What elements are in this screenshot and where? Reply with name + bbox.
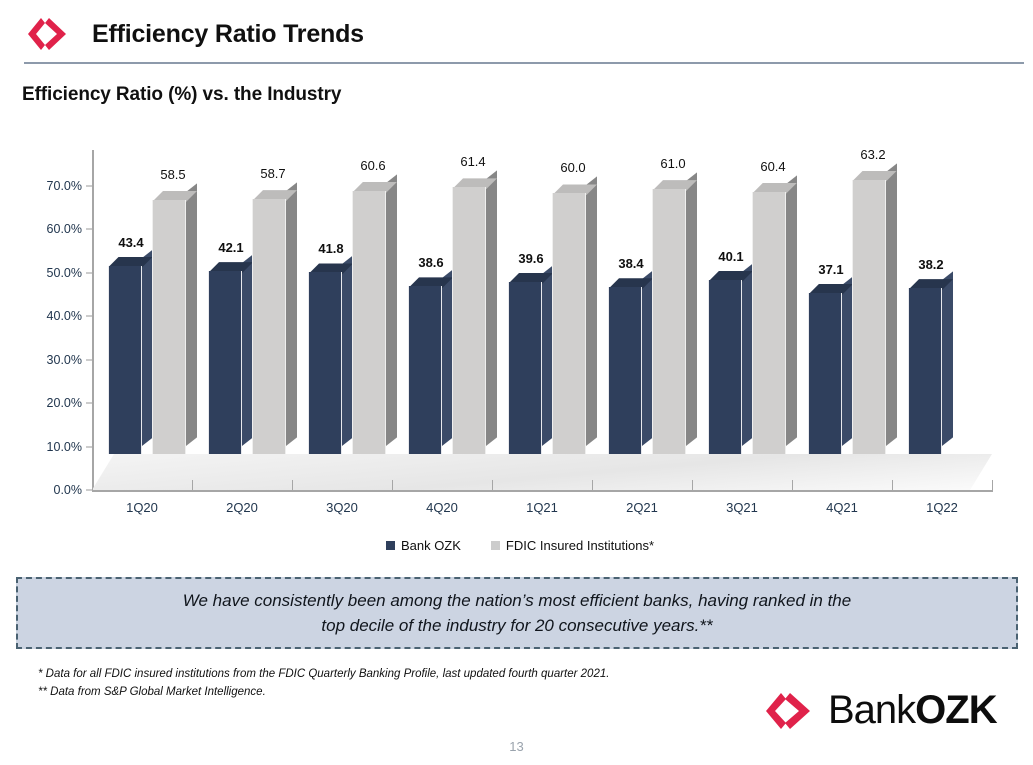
brand-word-bank: Bank: [828, 688, 915, 732]
legend-swatch-icon: [491, 541, 500, 550]
bar-value-label-bank-ozk: 38.2: [896, 257, 966, 272]
legend-item-ozk[interactable]: Bank OZK: [386, 538, 461, 553]
legend-label: FDIC Insured Institutions*: [506, 538, 654, 553]
bar-front-face: [652, 189, 686, 454]
y-axis-tick: [86, 446, 92, 447]
callout-line-1: We have consistently been among the nati…: [183, 591, 851, 611]
x-axis-label-1Q21: 1Q21: [497, 500, 587, 515]
x-axis-tick: [892, 480, 893, 492]
efficiency-ratio-chart: 0.0%10.0%20.0%30.0%40.0%50.0%60.0%70.0% …: [20, 150, 1020, 560]
callout-box: We have consistently been among the nati…: [16, 577, 1018, 649]
x-axis-label-3Q21: 3Q21: [697, 500, 787, 515]
bar-side-face: [942, 272, 953, 446]
bar-value-label-fdic: 60.0: [538, 160, 608, 175]
bar-value-label-fdic: 61.0: [638, 156, 708, 171]
x-axis-tick: [292, 480, 293, 492]
bar-value-label-fdic: 58.5: [138, 167, 208, 182]
y-axis-tick: [86, 186, 92, 187]
bar-side-face: [686, 172, 697, 446]
y-axis-tick: [86, 316, 92, 317]
callout-line-2: top decile of the industry for 20 consec…: [321, 616, 712, 636]
bar-fdic-insured-institutions[interactable]: [152, 200, 186, 454]
bar-side-face: [186, 183, 197, 446]
bar-front-face: [208, 271, 242, 454]
x-axis-tick: [992, 480, 993, 492]
y-axis-tick-label: 70.0%: [47, 179, 82, 193]
bar-fdic-insured-institutions[interactable]: [652, 189, 686, 454]
bar-fdic-insured-institutions[interactable]: [752, 192, 786, 454]
bar-side-face: [386, 174, 397, 446]
bar-fdic-insured-institutions[interactable]: [252, 199, 286, 454]
bar-value-label-fdic: 58.7: [238, 166, 308, 181]
bar-front-face: [308, 272, 342, 454]
bar-front-face: [408, 286, 442, 454]
bar-fdic-insured-institutions[interactable]: [552, 193, 586, 454]
y-axis-tick: [86, 229, 92, 230]
brand-wordmark: BankOZK: [828, 688, 997, 733]
footnote-2: ** Data from S&P Global Market Intellige…: [38, 684, 609, 702]
y-axis-tick-label: 30.0%: [47, 353, 82, 367]
page-number: 13: [0, 739, 1033, 754]
bar-fdic-insured-institutions[interactable]: [352, 191, 386, 454]
bar-bank-ozk[interactable]: [608, 287, 642, 454]
x-axis-label-2Q21: 2Q21: [597, 500, 687, 515]
y-axis-tick-label: 40.0%: [47, 309, 82, 323]
bar-front-face: [552, 193, 586, 454]
chevron-pair-logo-icon: [762, 689, 814, 733]
legend-item-fdic[interactable]: FDIC Insured Institutions*: [491, 538, 654, 553]
x-axis-label-1Q20: 1Q20: [97, 500, 187, 515]
x-axis-tick: [92, 480, 93, 492]
bar-group: 38.2: [908, 150, 1004, 454]
y-axis-tick: [86, 403, 92, 404]
chevron-pair-logo-icon: [24, 14, 70, 54]
x-axis-tick: [492, 480, 493, 492]
bar-group: 38.661.4: [408, 150, 504, 454]
bar-bank-ozk[interactable]: [708, 280, 742, 454]
bar-group: 43.458.5: [108, 150, 204, 454]
bar-front-face: [108, 266, 142, 454]
bar-group: 38.461.0: [608, 150, 704, 454]
x-axis-label-1Q22: 1Q22: [897, 500, 987, 515]
bar-front-face: [908, 288, 942, 454]
bar-bank-ozk[interactable]: [208, 271, 242, 454]
bar-front-face: [708, 280, 742, 454]
y-axis-tick-label: 50.0%: [47, 266, 82, 280]
header-divider: [24, 62, 1024, 64]
bank-ozk-brand-logo: BankOZK: [762, 688, 997, 733]
legend-label: Bank OZK: [401, 538, 461, 553]
bar-group: 42.158.7: [208, 150, 304, 454]
bar-front-face: [852, 180, 886, 454]
x-axis-tick: [192, 480, 193, 492]
page-title: Efficiency Ratio Trends: [92, 20, 364, 49]
bar-side-face: [586, 177, 597, 446]
bar-front-face: [252, 199, 286, 454]
bar-value-label-fdic: 60.6: [338, 158, 408, 173]
y-axis-labels: 0.0%10.0%20.0%30.0%40.0%50.0%60.0%70.0%: [20, 150, 82, 490]
bar-bank-ozk[interactable]: [308, 272, 342, 454]
bar-front-face: [152, 200, 186, 454]
bar-front-face: [808, 293, 842, 454]
x-axis-tick: [792, 480, 793, 492]
bar-front-face: [508, 282, 542, 454]
x-axis-label-2Q20: 2Q20: [197, 500, 287, 515]
bar-value-label-fdic: 63.2: [838, 147, 908, 162]
bar-group: 40.160.4: [708, 150, 804, 454]
y-axis-tick-label: 60.0%: [47, 222, 82, 236]
bar-bank-ozk[interactable]: [108, 266, 142, 454]
x-axis-tick: [692, 480, 693, 492]
y-axis-tick: [86, 272, 92, 273]
footnotes: * Data for all FDIC insured institutions…: [38, 666, 609, 702]
bar-bank-ozk[interactable]: [508, 282, 542, 454]
bar-front-face: [608, 287, 642, 454]
bar-group: 37.163.2: [808, 150, 904, 454]
bar-group: 39.660.0: [508, 150, 604, 454]
footnote-1: * Data for all FDIC insured institutions…: [38, 666, 609, 684]
x-axis-line: [92, 490, 992, 492]
bar-value-label-fdic: 61.4: [438, 154, 508, 169]
x-axis-label-3Q20: 3Q20: [297, 500, 387, 515]
x-axis-label-4Q20: 4Q20: [397, 500, 487, 515]
bar-bank-ozk[interactable]: [408, 286, 442, 454]
x-axis-label-4Q21: 4Q21: [797, 500, 887, 515]
chart-3d-floor: [92, 454, 992, 490]
bar-side-face: [786, 175, 797, 446]
y-axis-tick: [86, 359, 92, 360]
chart-legend: Bank OZKFDIC Insured Institutions*: [20, 538, 1020, 553]
bar-fdic-insured-institutions[interactable]: [452, 187, 486, 454]
y-axis-tick-label: 0.0%: [54, 483, 83, 497]
slide-header: Efficiency Ratio Trends: [0, 0, 1033, 68]
bar-fdic-insured-institutions[interactable]: [852, 180, 886, 454]
y-axis-tick-label: 20.0%: [47, 396, 82, 410]
bar-group: 41.860.6: [308, 150, 404, 454]
bar-side-face: [886, 163, 897, 446]
bar-front-face: [352, 191, 386, 454]
legend-swatch-icon: [386, 541, 395, 550]
bar-side-face: [486, 171, 497, 446]
brand-word-ozk: OZK: [915, 688, 996, 732]
y-axis-tick-label: 10.0%: [47, 440, 82, 454]
bar-bank-ozk[interactable]: [908, 288, 942, 454]
bar-front-face: [752, 192, 786, 454]
x-axis-tick: [392, 480, 393, 492]
chart-subtitle: Efficiency Ratio (%) vs. the Industry: [22, 84, 341, 106]
bar-bank-ozk[interactable]: [808, 293, 842, 454]
bar-value-label-fdic: 60.4: [738, 159, 808, 174]
bar-front-face: [452, 187, 486, 454]
x-axis-tick: [592, 480, 593, 492]
chart-plot-area: 43.458.542.158.741.860.638.661.439.660.0…: [92, 150, 992, 490]
bar-side-face: [286, 182, 297, 446]
